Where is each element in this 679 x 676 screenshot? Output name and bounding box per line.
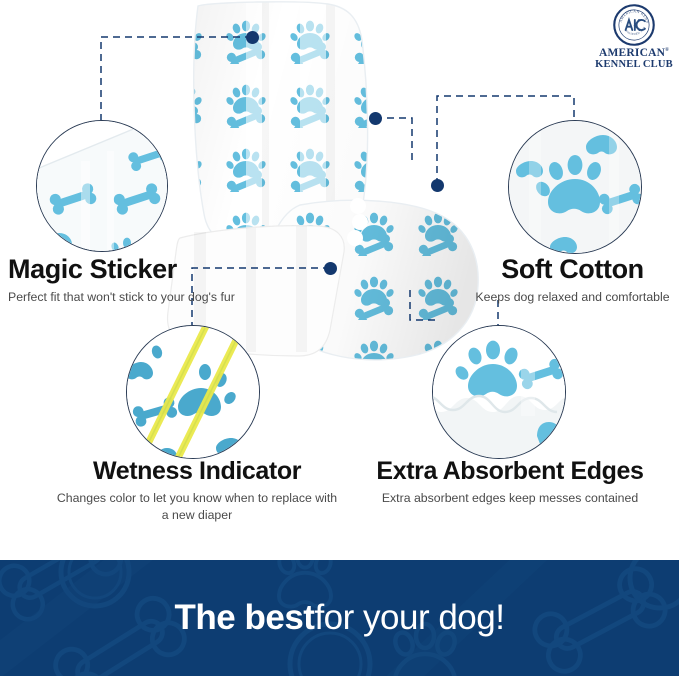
akc-line2: KENNEL CLUB (595, 60, 673, 71)
soft-cotton-closeup (509, 121, 641, 253)
akc-line1: AMERICAN (599, 47, 665, 59)
akc-logo: AMERICAN KENNEL CLUB FOUNDED 1884 AMERIC… (592, 4, 676, 74)
akc-wordmark: AMERICAN® KENNEL CLUB (595, 48, 673, 70)
feature-title: Soft Cotton (470, 255, 675, 283)
wetness-indicator-closeup (127, 326, 259, 458)
callout-circle-wetness-indicator (126, 325, 260, 459)
feature-wetness-indicator: Wetness Indicator Changes color to let y… (52, 458, 342, 523)
feature-description: Keeps dog relaxed and comfortable (470, 289, 675, 306)
connector-dot-magic-sticker (246, 31, 259, 44)
feature-title: Wetness Indicator (52, 458, 342, 484)
feature-description: Extra absorbent edges keep messes contai… (340, 490, 679, 507)
feature-magic-sticker: Magic Sticker Perfect fit that won't sti… (8, 255, 248, 306)
absorbent-edge-closeup (433, 326, 565, 458)
magic-sticker-closeup (37, 121, 167, 251)
feature-title: Magic Sticker (8, 255, 248, 283)
registered-mark: ® (665, 48, 669, 53)
banner-regular-text: for your dog! (314, 598, 504, 638)
feature-soft-cotton: Soft Cotton Keeps dog relaxed and comfor… (470, 255, 675, 306)
feature-description: Changes color to let you know when to re… (52, 490, 342, 523)
connector-dot-wetness-indicator (324, 262, 337, 275)
banner-bold-text: The best (175, 598, 315, 638)
connector-dot-diaper-edge (369, 112, 382, 125)
feature-absorbent-edges: Extra Absorbent Edges Extra absorbent ed… (340, 458, 679, 507)
callout-circle-absorbent-edges (432, 325, 566, 459)
feature-title: Extra Absorbent Edges (340, 458, 679, 484)
callout-circle-soft-cotton (508, 120, 642, 254)
callout-circle-magic-sticker (36, 120, 168, 252)
banner-tagline: The best for your dog! (0, 560, 679, 676)
connector-dot-soft-cotton (431, 179, 444, 192)
feature-description: Perfect fit that won't stick to your dog… (8, 289, 248, 306)
bottom-banner: The best for your dog! (0, 560, 679, 676)
infographic-root: AMERICAN KENNEL CLUB FOUNDED 1884 AMERIC… (0, 0, 679, 676)
akc-seal-icon: AMERICAN KENNEL CLUB FOUNDED 1884 (613, 4, 655, 46)
